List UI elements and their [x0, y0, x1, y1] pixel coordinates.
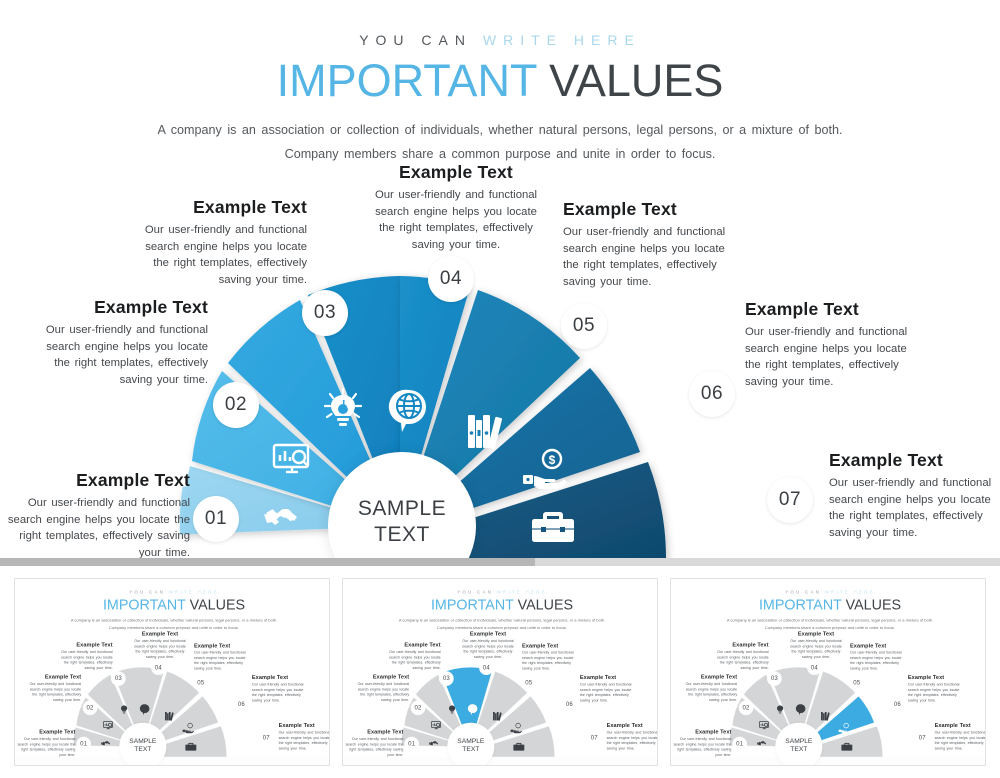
- callout-05-body: Our user-friendly and functional search …: [563, 224, 743, 290]
- thumb2-callout-07-body: Our user-friendly and functional search …: [607, 730, 658, 751]
- thumb2-hand-coin-icon: [510, 723, 522, 734]
- thumb3-callout-01: Example Text Our user-friendly and funct…: [671, 728, 731, 757]
- thumb3-callout-06-body: Our user-friendly and functional search …: [908, 682, 965, 703]
- thumb1-center-line-2: TEXT: [134, 745, 151, 753]
- thumb2-callout-03-title: Example Text: [383, 642, 440, 649]
- segment-badge-05[interactable]: 05: [561, 303, 607, 349]
- thumb3-badge-01: 01: [732, 737, 747, 752]
- thumb1-badge-01: 01: [76, 737, 91, 752]
- thumb3-callout-05-title: Example Text: [850, 642, 907, 649]
- thumb1-callout-01: Example Text Our user-friendly and funct…: [15, 728, 75, 757]
- callout-06-title: Example Text: [745, 299, 925, 320]
- thumb1-center-line-1: SAMPLE: [129, 737, 156, 745]
- thumb2-globe-pin-icon: [468, 704, 479, 716]
- thumb3-callout-01-body: Our user-friendly and functional search …: [671, 736, 731, 757]
- thumb3-callout-04-title: Example Text: [787, 631, 844, 638]
- thumbnail-1[interactable]: YOU CAN WRITE HERE IMPORTANT VALUES A co…: [14, 578, 330, 766]
- thumb3-callout-04: Example Text Our user-friendly and funct…: [787, 631, 844, 660]
- thumb1-callout-01-title: Example Text: [15, 728, 75, 735]
- svg-text:$: $: [549, 453, 556, 467]
- thumb3-callout-02-body: Our user-friendly and functional search …: [680, 681, 737, 702]
- callout-01-body: Our user-friendly and functional search …: [0, 495, 190, 560]
- thumb3-center-line-2: TEXT: [790, 745, 807, 753]
- thumb2-callout-01-title: Example Text: [343, 728, 403, 735]
- thumb3-callout-06: Example Text Our user-friendly and funct…: [908, 674, 965, 703]
- thumb3-hand-coin-icon: [838, 723, 850, 734]
- thumb2-center-line-1: SAMPLE: [457, 737, 484, 745]
- slide-canvas: YOU CAN WRITE HERE IMPORTANT VALUES A co…: [0, 0, 1000, 560]
- thumbnail-3[interactable]: YOU CAN WRITE HERE IMPORTANT VALUES A co…: [670, 578, 986, 766]
- segment-badge-01[interactable]: 01: [193, 496, 239, 542]
- thumb3-callout-03-body: Our user-friendly and functional search …: [711, 650, 768, 671]
- callout-03-title: Example Text: [127, 197, 307, 218]
- thumb1-callout-01-body: Our user-friendly and functional search …: [15, 736, 75, 757]
- thumb1-callout-03-body: Our user-friendly and functional search …: [55, 650, 112, 671]
- thumb3-books-icon: [820, 711, 831, 721]
- segment-badge-07[interactable]: 07: [767, 477, 813, 523]
- thumb1-badge-07: 07: [259, 731, 274, 746]
- thumb2-callout-06-title: Example Text: [580, 674, 637, 681]
- callout-07: Example Text Our user-friendly and funct…: [829, 450, 1000, 541]
- thumb2-center-circle: SAMPLE TEXT: [447, 723, 494, 766]
- thumb1-books-icon: [164, 711, 175, 721]
- thumb2-badge-03: 03: [439, 671, 454, 686]
- thumb1-callout-02: Example Text Our user-friendly and funct…: [24, 673, 81, 702]
- thumb2-badge-04: 04: [479, 660, 494, 675]
- horizontal-scrollbar-thumb[interactable]: [0, 558, 535, 566]
- callout-01: Example Text Our user-friendly and funct…: [0, 470, 190, 560]
- thumbnail-strip: YOU CAN WRITE HERE IMPORTANT VALUES A co…: [0, 566, 1000, 778]
- thumb1-badge-02: 02: [83, 700, 98, 715]
- thumb2-badge-01: 01: [404, 737, 419, 752]
- thumb2-monitor-chart-icon: [431, 721, 442, 731]
- thumb2-handshake-icon: [428, 739, 439, 748]
- callout-02-title: Example Text: [28, 297, 208, 318]
- thumb1-callout-07-body: Our user-friendly and functional search …: [279, 730, 330, 751]
- thumb1-callout-05-body: Our user-friendly and functional search …: [194, 650, 251, 671]
- thumb1-callout-03-title: Example Text: [55, 642, 112, 649]
- thumb2-callout-07: Example Text Our user-friendly and funct…: [607, 722, 658, 751]
- thumb2-callout-04: Example Text Our user-friendly and funct…: [459, 631, 516, 660]
- callout-03: Example Text Our user-friendly and funct…: [127, 197, 307, 288]
- thumb3-callout-06-title: Example Text: [908, 674, 965, 681]
- thumb1-callout-04: Example Text Our user-friendly and funct…: [131, 631, 188, 660]
- thumb2-callout-01: Example Text Our user-friendly and funct…: [343, 728, 403, 757]
- thumb1-callout-06-body: Our user-friendly and functional search …: [252, 682, 309, 703]
- thumb3-briefcase-icon: [841, 742, 853, 752]
- thumb1-callout-06-title: Example Text: [252, 674, 309, 681]
- thumb1-briefcase-icon: [185, 742, 197, 752]
- globe-pin-icon: [388, 388, 430, 434]
- thumb2-callout-06: Example Text Our user-friendly and funct…: [580, 674, 637, 703]
- hand-coin-icon: $: [522, 448, 568, 490]
- thumb3-callout-05-body: Our user-friendly and functional search …: [850, 650, 907, 671]
- callout-02: Example Text Our user-friendly and funct…: [28, 297, 208, 388]
- segment-badge-06[interactable]: 06: [689, 371, 735, 417]
- books-icon: [466, 411, 508, 451]
- thumb1-callout-02-title: Example Text: [24, 673, 81, 680]
- thumb2-callout-01-body: Our user-friendly and functional search …: [343, 736, 403, 757]
- thumb3-badge-03: 03: [767, 671, 782, 686]
- thumb1-lightbulb-idea-icon: [119, 703, 130, 714]
- thumb2-badge-06: 06: [562, 697, 577, 712]
- thumb3-monitor-chart-icon: [759, 721, 770, 731]
- center-line-1: SAMPLE: [358, 496, 446, 522]
- callout-06-body: Our user-friendly and functional search …: [745, 324, 925, 390]
- thumb3-callout-02: Example Text Our user-friendly and funct…: [680, 673, 737, 702]
- segment-badge-02[interactable]: 02: [213, 382, 259, 428]
- thumb1-hand-coin-icon: [182, 723, 194, 734]
- lightbulb-idea-icon: [322, 387, 364, 431]
- thumb1-callout-05-title: Example Text: [194, 642, 251, 649]
- thumb3-center-circle: SAMPLE TEXT: [775, 723, 822, 766]
- thumb1-badge-05: 05: [193, 675, 208, 690]
- thumb1-callout-07-title: Example Text: [279, 722, 330, 729]
- thumb3-globe-pin-icon: [796, 704, 807, 716]
- thumb2-callout-05-body: Our user-friendly and functional search …: [522, 650, 579, 671]
- segment-badge-03[interactable]: 03: [302, 290, 348, 336]
- briefcase-icon: [530, 508, 576, 546]
- thumb1-badge-03: 03: [111, 671, 126, 686]
- thumb3-badge-06: 06: [890, 697, 905, 712]
- thumb1-handshake-icon: [100, 739, 111, 748]
- thumb2-badge-07: 07: [587, 731, 602, 746]
- thumb3-handshake-icon: [756, 739, 767, 748]
- thumb2-lightbulb-idea-icon: [447, 703, 458, 714]
- thumb2-callout-05: Example Text Our user-friendly and funct…: [522, 642, 579, 671]
- thumb2-callout-02-body: Our user-friendly and functional search …: [352, 681, 409, 702]
- thumb1-callout-06: Example Text Our user-friendly and funct…: [252, 674, 309, 703]
- thumb1-callout-05: Example Text Our user-friendly and funct…: [194, 642, 251, 671]
- thumb2-badge-05: 05: [521, 675, 536, 690]
- thumb3-callout-07: Example Text Our user-friendly and funct…: [935, 722, 986, 751]
- callout-04-title: Example Text: [366, 162, 546, 183]
- thumb1-callout-03: Example Text Our user-friendly and funct…: [55, 642, 112, 671]
- thumb2-callout-04-title: Example Text: [459, 631, 516, 638]
- callout-04: Example Text Our user-friendly and funct…: [366, 162, 546, 253]
- thumb3-center-line-1: SAMPLE: [785, 737, 812, 745]
- center-line-2: TEXT: [374, 522, 430, 548]
- callout-05-title: Example Text: [563, 199, 743, 220]
- thumb1-callout-02-body: Our user-friendly and functional search …: [24, 681, 81, 702]
- callout-07-title: Example Text: [829, 450, 1000, 471]
- thumb3-callout-03: Example Text Our user-friendly and funct…: [711, 642, 768, 671]
- thumb2-center-line-2: TEXT: [462, 745, 479, 753]
- thumb3-callout-07-body: Our user-friendly and functional search …: [935, 730, 986, 751]
- thumb2-briefcase-icon: [513, 742, 525, 752]
- thumb3-callout-05: Example Text Our user-friendly and funct…: [850, 642, 907, 671]
- thumb1-badge-06: 06: [234, 697, 249, 712]
- thumb3-badge-04: 04: [807, 660, 822, 675]
- thumb1-globe-pin-icon: [140, 704, 151, 716]
- thumbnail-2[interactable]: YOU CAN WRITE HERE IMPORTANT VALUES A co…: [342, 578, 658, 766]
- callout-03-body: Our user-friendly and functional search …: [127, 222, 307, 288]
- thumb1-center-circle: SAMPLE TEXT: [119, 723, 166, 766]
- thumb3-callout-03-title: Example Text: [711, 642, 768, 649]
- thumb2-callout-03-body: Our user-friendly and functional search …: [383, 650, 440, 671]
- thumb2-callout-03: Example Text Our user-friendly and funct…: [383, 642, 440, 671]
- thumb3-lightbulb-idea-icon: [775, 703, 786, 714]
- thumb3-callout-07-title: Example Text: [935, 722, 986, 729]
- thumb1-monitor-chart-icon: [103, 721, 114, 731]
- thumb2-callout-05-title: Example Text: [522, 642, 579, 649]
- thumb1-badge-04: 04: [151, 660, 166, 675]
- thumb3-callout-04-body: Our user-friendly and functional search …: [787, 638, 844, 659]
- callout-01-title: Example Text: [0, 470, 190, 491]
- segment-badge-04[interactable]: 04: [428, 256, 474, 302]
- thumb3-callout-02-title: Example Text: [680, 673, 737, 680]
- handshake-icon: [262, 500, 300, 532]
- callout-05: Example Text Our user-friendly and funct…: [563, 199, 743, 290]
- callout-04-body: Our user-friendly and functional search …: [366, 187, 546, 253]
- thumb1-callout-07: Example Text Our user-friendly and funct…: [279, 722, 330, 751]
- thumb3-badge-07: 07: [915, 731, 930, 746]
- thumb2-callout-02: Example Text Our user-friendly and funct…: [352, 673, 409, 702]
- thumb2-callout-07-title: Example Text: [607, 722, 658, 729]
- thumb2-callout-02-title: Example Text: [352, 673, 409, 680]
- thumb2-callout-04-body: Our user-friendly and functional search …: [459, 638, 516, 659]
- callout-06: Example Text Our user-friendly and funct…: [745, 299, 925, 390]
- thumb3-badge-02: 02: [739, 700, 754, 715]
- thumb3-badge-05: 05: [849, 675, 864, 690]
- thumb2-badge-02: 02: [411, 700, 426, 715]
- thumb3-callout-01-title: Example Text: [671, 728, 731, 735]
- monitor-chart-icon: [272, 442, 314, 478]
- thumb2-books-icon: [492, 711, 503, 721]
- thumb1-callout-04-title: Example Text: [131, 631, 188, 638]
- callout-02-body: Our user-friendly and functional search …: [28, 322, 208, 388]
- fan-diagram: $ 01 02 03 04 05 06 07 SAMPLE TEXT: [0, 0, 1000, 560]
- thumb2-callout-06-body: Our user-friendly and functional search …: [580, 682, 637, 703]
- thumb1-callout-04-body: Our user-friendly and functional search …: [131, 638, 188, 659]
- callout-07-body: Our user-friendly and functional search …: [829, 475, 1000, 541]
